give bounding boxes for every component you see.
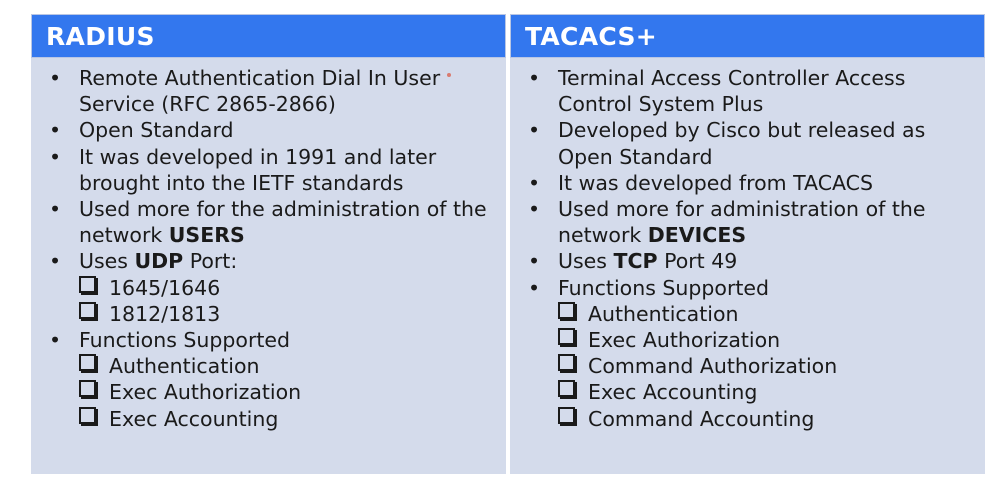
column-body: •Terminal Access Controller Access Contr… (510, 58, 985, 474)
sub-bullet-text: Command Accounting (588, 407, 814, 431)
plain-text: Open Standard (79, 118, 234, 142)
sub-bullet-item: Exec Authorization (37, 379, 500, 405)
bullet-text: Open Standard (79, 118, 234, 142)
bullet-text: Functions Supported (79, 328, 290, 352)
bullet-list: •Remote Authentication Dial In User Serv… (37, 65, 500, 432)
bullet-dot-icon: • (528, 196, 540, 222)
radius-tacacs-comparison-table: RADIUS•Remote Authentication Dial In Use… (31, 14, 985, 474)
column-header: RADIUS (31, 14, 506, 58)
bullet-item: •Used more for administration of the net… (516, 196, 979, 248)
sub-bullet-text: 1645/1646 (109, 276, 220, 300)
sub-bullet-text: Command Authorization (588, 354, 837, 378)
bullet-dot-icon: • (528, 275, 540, 301)
plain-text: Command Authorization (588, 354, 837, 378)
bullet-item: •It was developed in 1991 and later brou… (37, 144, 500, 196)
bullet-item: •Open Standard (37, 117, 500, 143)
plain-text: Uses (79, 249, 135, 273)
checkbox-square-icon (558, 407, 575, 424)
checkbox-square-icon (558, 328, 575, 345)
plain-text: Exec Authorization (109, 380, 301, 404)
plain-text: Uses (558, 249, 614, 273)
plain-text: Developed by Cisco but released as Open … (558, 118, 925, 168)
sub-bullet-text: Authentication (109, 354, 260, 378)
bullet-text: Terminal Access Controller Access Contro… (558, 66, 905, 116)
bullet-text: Used more for administration of the netw… (558, 197, 926, 247)
checkbox-square-icon (79, 380, 96, 397)
bullet-dot-icon: • (49, 248, 61, 274)
plain-text: Used more for the administration of the … (79, 197, 487, 247)
bullet-item: •Uses TCP Port 49 (516, 248, 979, 274)
sub-bullet-text: Authentication (588, 302, 739, 326)
bullet-dot-icon: • (528, 170, 540, 196)
table-column-radius: RADIUS•Remote Authentication Dial In Use… (31, 14, 506, 474)
sub-bullet-item: Command Authorization (516, 353, 979, 379)
bullet-item: •Functions Supported (516, 275, 979, 301)
bullet-text: Functions Supported (558, 276, 769, 300)
sub-bullet-item: Exec Accounting (516, 379, 979, 405)
sub-bullet-text: Exec Authorization (588, 328, 780, 352)
emphasis-text: UDP (135, 249, 184, 273)
sub-bullet-item: Authentication (516, 301, 979, 327)
bullet-text: Uses UDP Port: (79, 249, 237, 273)
bullet-item: •Uses UDP Port: (37, 248, 500, 274)
checkbox-square-icon (558, 380, 575, 397)
plain-text: Functions Supported (79, 328, 290, 352)
plain-text: Functions Supported (558, 276, 769, 300)
bullet-item: •It was developed from TACACS (516, 170, 979, 196)
plain-text: Authentication (109, 354, 260, 378)
bullet-dot-icon: • (49, 196, 61, 222)
sub-bullet-item: Exec Authorization (516, 327, 979, 353)
emphasis-text: USERS (169, 223, 245, 247)
checkbox-square-icon (79, 276, 96, 293)
column-header: TACACS+ (510, 14, 985, 58)
checkbox-square-icon (79, 407, 96, 424)
sub-bullet-text: Exec Accounting (588, 380, 757, 404)
sub-bullet-text: Exec Accounting (109, 407, 278, 431)
bullet-dot-icon: • (49, 327, 61, 353)
plain-text: Exec Accounting (109, 407, 278, 431)
sub-bullet-list: AuthenticationExec AuthorizationCommand … (516, 301, 979, 432)
bullet-text: It was developed from TACACS (558, 171, 873, 195)
sub-bullet-text: Exec Authorization (109, 380, 301, 404)
plain-text: Command Accounting (588, 407, 814, 431)
plain-text: It was developed from TACACS (558, 171, 873, 195)
column-body: •Remote Authentication Dial In User Serv… (31, 58, 506, 474)
sub-bullet-list: 1645/16461812/1813 (37, 275, 500, 327)
sub-bullet-item: Authentication (37, 353, 500, 379)
bullet-dot-icon: • (528, 248, 540, 274)
checkbox-square-icon (79, 302, 96, 319)
sub-bullet-item: 1645/1646 (37, 275, 500, 301)
bullet-text: Uses TCP Port 49 (558, 249, 737, 273)
bullet-item: •Developed by Cisco but released as Open… (516, 117, 979, 169)
bullet-item: •Functions Supported (37, 327, 500, 353)
sub-bullet-item: Command Accounting (516, 406, 979, 432)
stray-mark-artifact (447, 73, 451, 77)
plain-text: Exec Accounting (588, 380, 757, 404)
emphasis-text: TCP (614, 249, 658, 273)
plain-text: Exec Authorization (588, 328, 780, 352)
bullet-dot-icon: • (49, 144, 61, 170)
plain-text: Remote Authentication Dial In User Servi… (79, 66, 440, 116)
sub-bullet-item: 1812/1813 (37, 301, 500, 327)
bullet-text: Used more for the administration of the … (79, 197, 487, 247)
bullet-dot-icon: • (528, 65, 540, 91)
bullet-dot-icon: • (49, 65, 61, 91)
plain-text: Port 49 (658, 249, 738, 273)
emphasis-text: DEVICES (648, 223, 746, 247)
checkbox-square-icon (558, 354, 575, 371)
bullet-item: •Terminal Access Controller Access Contr… (516, 65, 979, 117)
bullet-item: •Used more for the administration of the… (37, 196, 500, 248)
plain-text: 1645/1646 (109, 276, 220, 300)
checkbox-square-icon (558, 302, 575, 319)
bullet-dot-icon: • (528, 117, 540, 143)
plain-text: It was developed in 1991 and later broug… (79, 145, 436, 195)
bullet-list: •Terminal Access Controller Access Contr… (516, 65, 979, 432)
bullet-text: Developed by Cisco but released as Open … (558, 118, 925, 168)
bullet-item: •Remote Authentication Dial In User Serv… (37, 65, 500, 117)
sub-bullet-item: Exec Accounting (37, 406, 500, 432)
plain-text: 1812/1813 (109, 302, 220, 326)
plain-text: Authentication (588, 302, 739, 326)
table-column-tacacs-plus: TACACS+•Terminal Access Controller Acces… (510, 14, 985, 474)
plain-text: Terminal Access Controller Access Contro… (558, 66, 905, 116)
plain-text: Port: (183, 249, 237, 273)
bullet-dot-icon: • (49, 117, 61, 143)
sub-bullet-text: 1812/1813 (109, 302, 220, 326)
bullet-text: Remote Authentication Dial In User Servi… (79, 66, 440, 116)
sub-bullet-list: AuthenticationExec AuthorizationExec Acc… (37, 353, 500, 432)
bullet-text: It was developed in 1991 and later broug… (79, 145, 436, 195)
checkbox-square-icon (79, 354, 96, 371)
